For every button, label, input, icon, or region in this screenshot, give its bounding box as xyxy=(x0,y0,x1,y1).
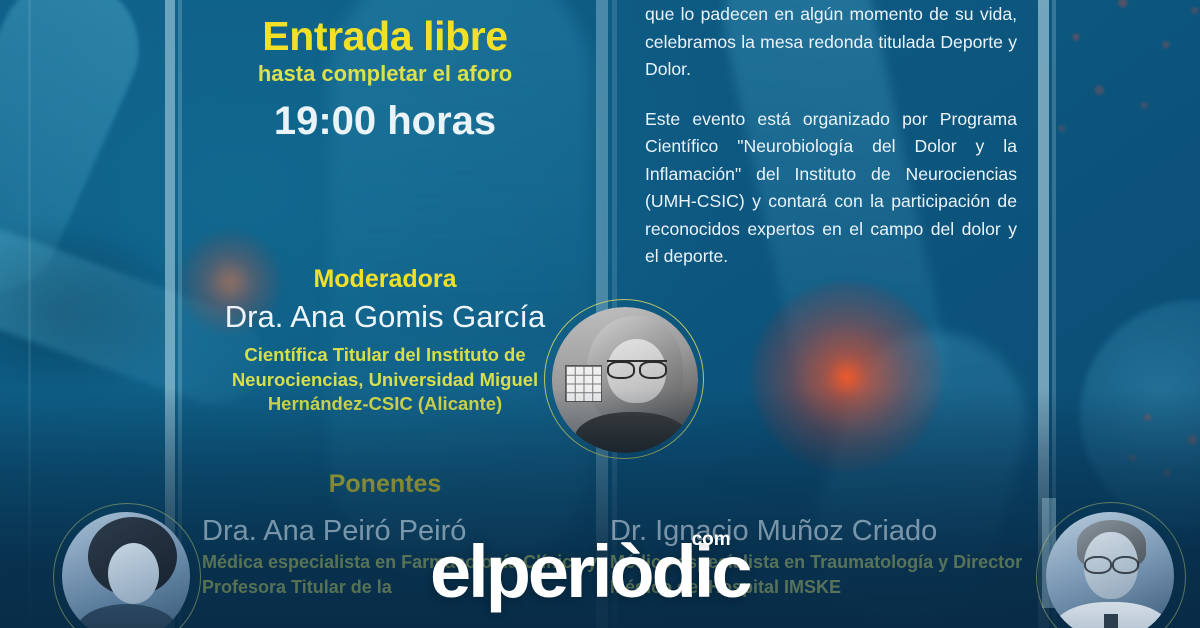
moderator-role-label: Moderadora xyxy=(185,265,585,294)
speakers-heading-block: Ponentes xyxy=(185,470,585,499)
portrait-equipment xyxy=(565,365,602,402)
pain-speckle-cluster-top xyxy=(1040,0,1200,170)
body-silhouette-head xyxy=(1080,300,1200,530)
body-silhouette-arm-upper xyxy=(0,0,161,314)
site-watermark-logo: elperiòdiccom xyxy=(430,535,789,609)
moderator-photo-circle xyxy=(552,307,698,453)
admission-note: hasta completar el aforo xyxy=(185,62,585,86)
moderator-portrait-image xyxy=(552,307,698,453)
pain-glow-icon xyxy=(752,282,942,472)
event-time: 19:00 horas xyxy=(185,100,585,142)
moderator-affiliation: Científica Titular del Instituto de Neur… xyxy=(185,343,585,416)
speakers-role-label: Ponentes xyxy=(185,470,585,499)
body-silhouette-shadow xyxy=(0,220,190,400)
description-paragraph-1: de mejorar la calidad de vida de las per… xyxy=(645,0,1017,84)
moderator-photo xyxy=(552,307,698,453)
event-poster: Entrada libre hasta completar el aforo 1… xyxy=(0,0,1200,628)
moderator-block: Moderadora Dra. Ana Gomis García Científ… xyxy=(185,265,585,416)
left-info-column: Entrada libre hasta completar el aforo 1… xyxy=(185,0,585,142)
watermark-tld: com xyxy=(692,529,731,550)
portrait-glasses-icon xyxy=(607,360,667,377)
description-paragraph-2: Este evento está organizado por Programa… xyxy=(645,106,1017,271)
moderator-name: Dra. Ana Gomis García xyxy=(185,300,585,334)
description-column: de mejorar la calidad de vida de las per… xyxy=(645,0,1017,270)
admission-title: Entrada libre xyxy=(185,16,585,58)
portrait-shoulders xyxy=(575,412,689,453)
